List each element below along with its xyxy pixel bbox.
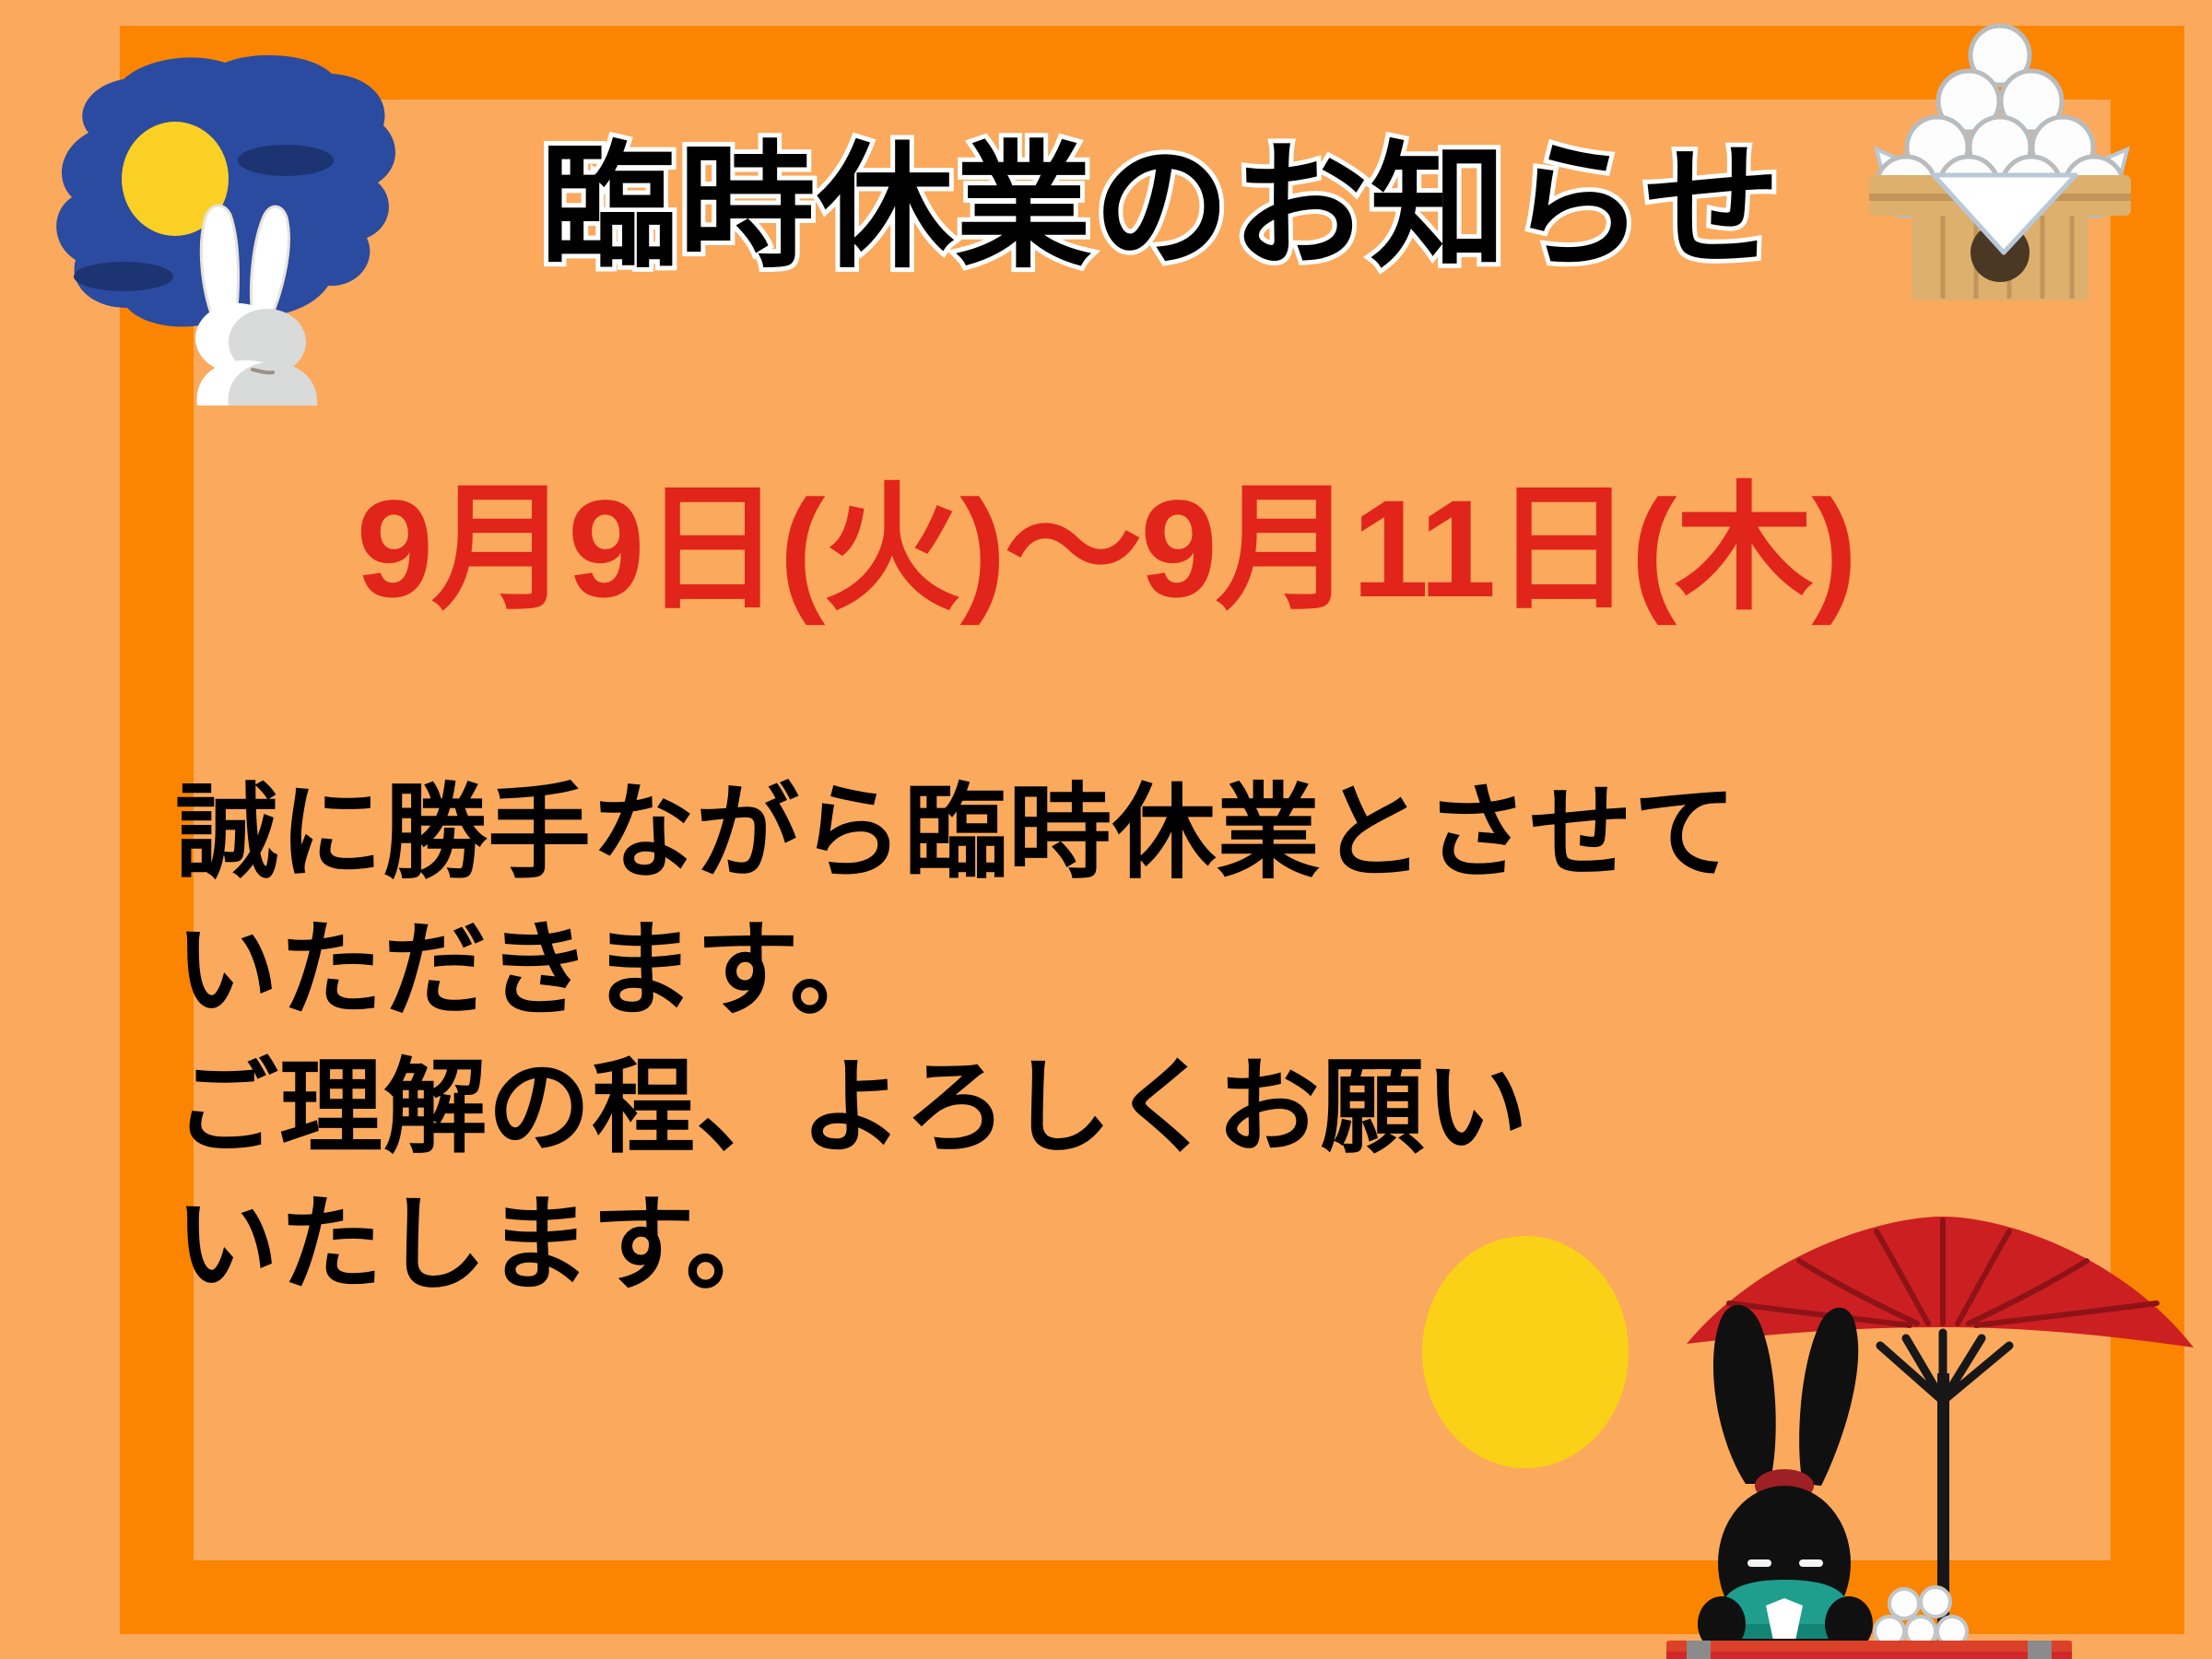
closure-date-range: 9月9日(火)～9月11日(木) [0,479,2212,618]
page-title: 臨時休業のお知らせ [0,140,2212,276]
poster-canvas: 臨時休業のお知らせ 9月9日(火)～9月11日(木) 誠に勝手ながら臨時休業とさ… [0,0,2212,1659]
notice-body-line-1: 誠に勝手ながら臨時休業とさせて [175,765,2111,902]
notice-body-line-4: いたします。 [175,1177,2111,1314]
notice-body-line-2: いただきます。 [175,902,2111,1040]
notice-body-line-3: ご理解の程、よろしくお願い [175,1040,2111,1177]
notice-body: 誠に勝手ながら臨時休業とさせて いただきます。 ご理解の程、よろしくお願い いた… [175,765,2111,1314]
page-title-text: 臨時休業のお知らせ [429,140,1782,276]
